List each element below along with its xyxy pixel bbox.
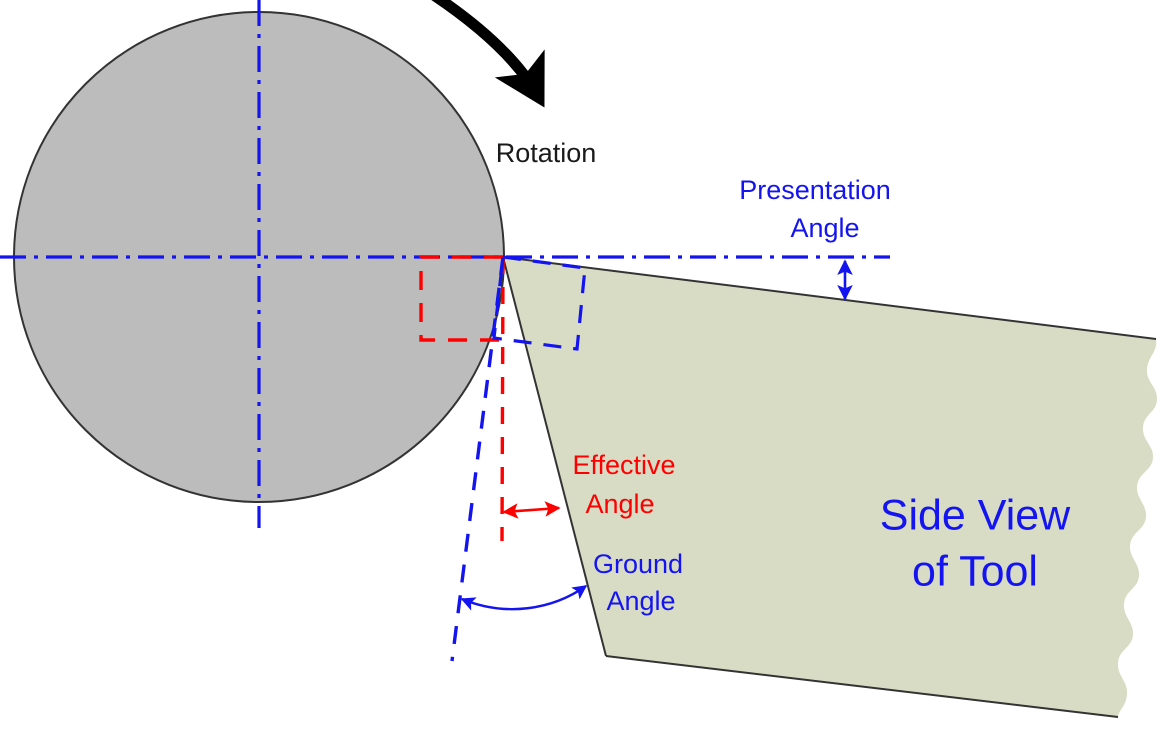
presentation-angle-label-line1: Presentation (739, 175, 891, 205)
effective-angle-label-line2: Angle (585, 489, 654, 519)
ground-angle-label-line2: Angle (606, 586, 675, 616)
rotation-label: Rotation (496, 138, 597, 168)
rotation-arrow-icon (420, 0, 538, 96)
side-view-label-line1: Side View (880, 491, 1071, 539)
rotation-arrow-group (420, 0, 538, 96)
ground-angle-arc (462, 586, 586, 609)
diagram-root: Rotation Presentation Angle Effective An… (0, 0, 1169, 739)
red-vertical-reference-line (502, 257, 503, 541)
effective-angle-arrow (504, 508, 559, 512)
presentation-angle-label-line2: Angle (790, 213, 859, 243)
side-view-label-line2: of Tool (912, 547, 1038, 595)
effective-angle-label-line1: Effective (572, 450, 675, 480)
technical-diagram-canvas: Rotation Presentation Angle Effective An… (0, 0, 1169, 739)
ground-angle-label-line1: Ground (593, 549, 683, 579)
tool-body-group (503, 257, 1157, 717)
